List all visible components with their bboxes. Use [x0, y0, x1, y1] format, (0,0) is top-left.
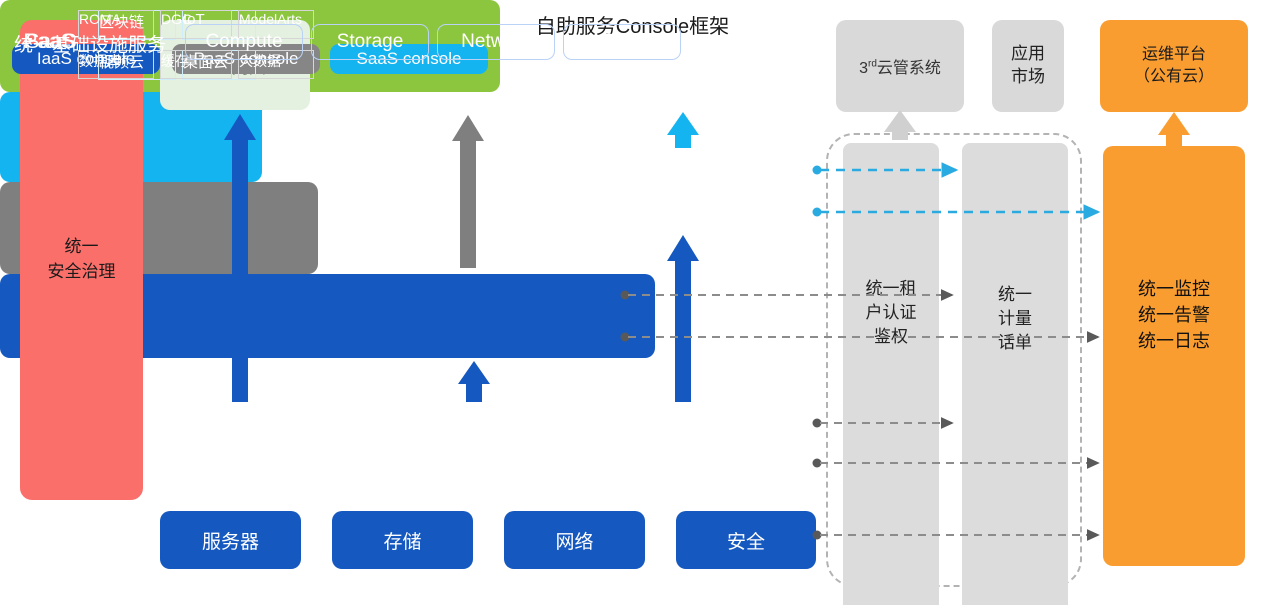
hardware-server-box: 服务器 [160, 511, 301, 569]
third-party-superscript: rd [868, 59, 877, 70]
unified-metering-column: 统一 计量 话单 [962, 143, 1068, 605]
security-line-1: 统一 [48, 235, 116, 260]
security-line-2: 安全治理 [48, 260, 116, 285]
unified-security-governance-box: 统一 安全治理 [20, 20, 143, 500]
iaas-item-network: Network [437, 24, 555, 60]
arrow-iaas-to-saas [667, 235, 699, 402]
monitor-line-3: 统一日志 [1138, 328, 1210, 354]
auth-line-3: 鉴权 [866, 325, 917, 349]
iaas-item-storage: Storage [311, 24, 429, 60]
app-market-line-2: 市场 [1011, 66, 1045, 89]
third-party-label-group: 3rd云管系统 [859, 54, 941, 78]
iaas-item-cce: CCE [563, 24, 681, 60]
architecture-diagram: 统一 安全治理 API网关 自助服务Console框架 IaaS console… [0, 0, 1265, 605]
metering-line-3: 话单 [998, 331, 1032, 355]
arrow-iaas-to-paas [458, 361, 490, 402]
metering-line-1: 统一 [998, 283, 1032, 307]
arrow-monitoring-to-ops-platform [1158, 112, 1190, 146]
metering-line-2: 计量 [998, 307, 1032, 331]
auth-line-2: 户认证 [866, 301, 917, 325]
monitor-line-1: 统一监控 [1138, 276, 1210, 302]
iaas-label: 统一基础设施服务 [14, 30, 166, 57]
ops-platform-line-2: （公有云） [1134, 66, 1214, 88]
arrow-paas-to-console [452, 115, 484, 268]
iaas-item-compute: Compute [185, 24, 303, 60]
ops-platform-box: 运维平台 （公有云） [1100, 20, 1248, 112]
app-market-box: 应用 市场 [992, 20, 1064, 112]
third-party-label: 云管系统 [877, 60, 941, 77]
unified-monitoring-box: 统一监控 统一告警 统一日志 [1103, 146, 1245, 566]
hardware-network-box: 网络 [504, 511, 645, 569]
monitor-line-2: 统一告警 [1138, 302, 1210, 328]
third-party-prefix: 3 [859, 60, 868, 77]
ops-platform-line-1: 运维平台 [1134, 44, 1214, 66]
hardware-security-box: 安全 [676, 511, 816, 569]
auth-line-1: 统一租 [866, 277, 917, 301]
app-market-line-1: 应用 [1011, 43, 1045, 66]
unified-tenant-auth-column: 统一租 户认证 鉴权 [843, 143, 939, 605]
third-party-cloud-management-box: 3rd云管系统 [836, 20, 964, 112]
hardware-storage-box: 存储 [332, 511, 473, 569]
arrow-saas-to-saas-console [667, 112, 699, 148]
